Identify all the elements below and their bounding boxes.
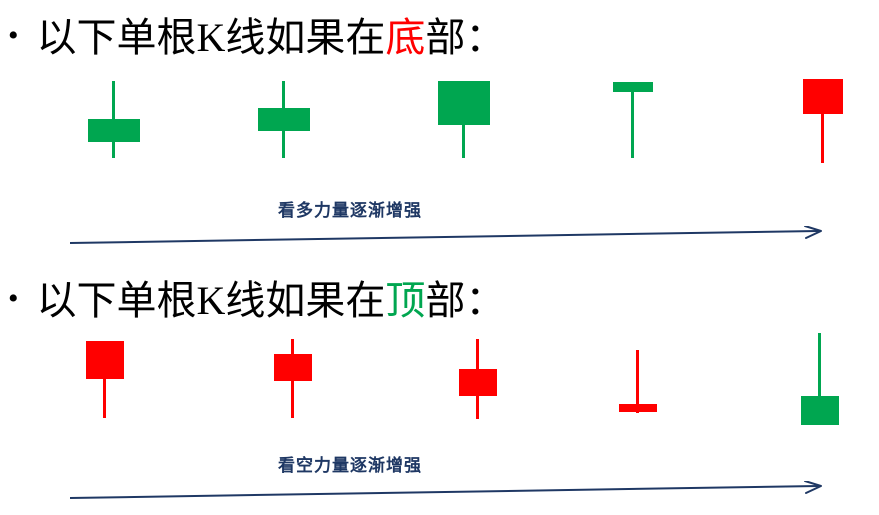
candle-top-1-hanging-man	[86, 327, 124, 437]
body	[258, 108, 310, 131]
candle-row-bottom	[0, 60, 879, 170]
heading-bottom-suffix: 部：	[425, 18, 505, 58]
body	[86, 341, 124, 379]
bullet-icon: •	[8, 21, 19, 51]
heading-top: • 以下单根K线如果在 顶 部：	[8, 281, 505, 321]
body	[801, 396, 839, 425]
body	[619, 404, 657, 412]
heading-top-prefix: 以下单根K线如果在	[37, 281, 386, 321]
candle-bottom-4-dragonfly-doji	[613, 60, 653, 170]
candle-top-3-spinning-top	[459, 327, 497, 437]
candle-bottom-5-red-hammer	[803, 60, 843, 170]
caption-bearish: 看空力量逐渐增强	[278, 451, 422, 476]
candle-row-top	[0, 327, 879, 437]
heading-top-suffix: 部：	[425, 281, 505, 321]
candle-bottom-3-hammer	[438, 60, 490, 170]
arrow-bearish	[70, 481, 830, 503]
body	[613, 82, 653, 92]
candle-bottom-1-spinning-top-low-body	[88, 60, 140, 170]
arrow-bullish-svg	[70, 226, 830, 248]
candle-bottom-2-spinning-top-high-body	[258, 60, 310, 170]
candle-top-5-green-inverted-hammer	[801, 327, 839, 437]
body	[438, 81, 490, 125]
caption-bullish: 看多力量逐渐增强	[278, 196, 422, 221]
heading-bottom: • 以下单根K线如果在 底 部：	[8, 18, 505, 58]
candle-top-2-hanging-man-short-upper-wick	[274, 327, 312, 437]
arrow-bearish-svg	[70, 481, 830, 503]
slide-canvas: • 以下单根K线如果在 底 部： 看多力量逐渐增强	[0, 0, 879, 515]
wick	[631, 82, 634, 158]
heading-top-highlight: 顶	[385, 281, 425, 321]
candle-top-4-gravestone-doji	[619, 327, 657, 437]
arrow-bullish	[70, 226, 830, 248]
body	[274, 354, 312, 381]
body	[459, 369, 497, 396]
body	[803, 79, 843, 114]
heading-bottom-prefix: 以下单根K线如果在	[37, 18, 386, 58]
body	[88, 119, 140, 142]
heading-bottom-highlight: 底	[385, 18, 425, 58]
bullet-icon: •	[8, 284, 19, 314]
